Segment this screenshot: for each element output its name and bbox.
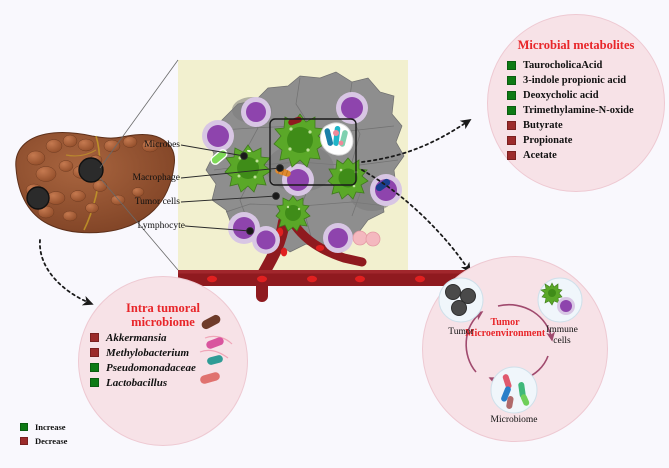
metabolite-label: 3-indole propionic acid <box>523 75 626 86</box>
list-item: Pseudomonadaceae <box>90 360 250 375</box>
list-item: Trimethylamine-N-oxide <box>507 103 667 118</box>
decrease-swatch <box>507 136 516 145</box>
liver-tumor-nodule <box>79 158 103 182</box>
microbe-label: Methylobacterium <box>106 347 189 359</box>
legend: Increase Decrease <box>20 420 67 448</box>
increase-swatch <box>90 363 99 372</box>
list-item: Lactobacillus <box>90 375 250 390</box>
callout-microbes: Microbes <box>136 140 180 150</box>
tme-immune-line1: Immune <box>537 325 587 336</box>
increase-swatch <box>507 106 516 115</box>
tme-immune-line2: cells <box>537 336 587 347</box>
metabolite-label: Deoxycholic acid <box>523 90 599 101</box>
microbiome-title-line1: Intra tumoral <box>78 301 248 315</box>
tme-node-label-microbiome: Microbiome <box>477 415 551 425</box>
callout-tumor-cells: Tumor cells <box>120 197 180 207</box>
increase-swatch <box>20 423 28 431</box>
legend-label: Decrease <box>35 436 67 446</box>
list-item: Propionate <box>507 133 667 148</box>
increase-swatch <box>507 76 516 85</box>
list-item: Butyrate <box>507 118 667 133</box>
callout-lymphocyte: Lymphocyte <box>125 221 185 231</box>
metabolite-label: Propionate <box>523 135 572 146</box>
microbiome-title-line2: microbiome <box>78 315 248 329</box>
list-item: TaurocholicaAcid <box>507 58 667 73</box>
tme-node-label-tumor: Tumor <box>429 327 493 337</box>
increase-swatch <box>507 61 516 70</box>
decrease-swatch <box>507 121 516 130</box>
figure-canvas: Microbial metabolites TaurocholicaAcid 3… <box>0 0 669 468</box>
legend-item-increase: Increase <box>20 420 67 434</box>
liver-tumor-nodule <box>27 187 49 209</box>
list-item: Akkermansia <box>90 330 250 345</box>
increase-swatch <box>90 378 99 387</box>
microbe-cluster-inset <box>321 123 353 155</box>
legend-item-decrease: Decrease <box>20 434 67 448</box>
microbiome-list: Akkermansia Methylobacterium Pseudomonad… <box>90 330 250 390</box>
metabolites-title: Microbial metabolites <box>487 38 665 53</box>
list-item: Acetate <box>507 148 667 163</box>
decrease-swatch <box>507 151 516 160</box>
metabolite-label: Trimethylamine-N-oxide <box>523 105 634 116</box>
tme-node-label-immune: Immune cells <box>537 325 587 347</box>
metabolite-label: Butyrate <box>523 120 563 131</box>
list-item: Deoxycholic acid <box>507 88 667 103</box>
list-item: Methylobacterium <box>90 345 250 360</box>
microbe-label: Lactobacillus <box>106 377 167 389</box>
list-item: 3-indole propionic acid <box>507 73 667 88</box>
tumor-mass-illustration <box>178 72 478 296</box>
microbe-label: Pseudomonadaceae <box>106 362 196 374</box>
decrease-swatch <box>90 348 99 357</box>
microbiome-title: Intra tumoral microbiome <box>78 301 248 329</box>
legend-label: Increase <box>35 422 66 432</box>
callout-macrophage: Macrophage <box>116 173 180 183</box>
increase-swatch <box>507 91 516 100</box>
decrease-swatch <box>20 437 28 445</box>
metabolite-label: TaurocholicaAcid <box>523 60 602 71</box>
metabolites-list: TaurocholicaAcid 3-indole propionic acid… <box>507 58 667 163</box>
decrease-swatch <box>90 333 99 342</box>
microbe-label: Akkermansia <box>106 332 167 344</box>
metabolite-label: Acetate <box>523 150 557 161</box>
